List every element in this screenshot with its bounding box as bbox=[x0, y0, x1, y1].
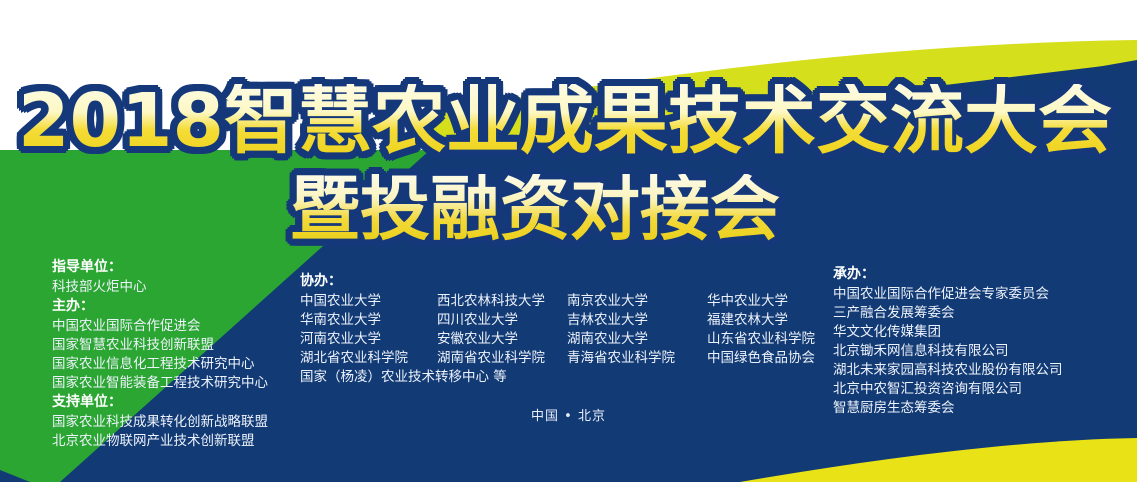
support-item: 北京农业物联网产业技术创新联盟 bbox=[52, 432, 268, 451]
coorganizer-item: 湖南农业大学 bbox=[567, 330, 707, 349]
host-item: 国家农业智能装备工程技术研究中心 bbox=[52, 374, 268, 393]
credits-area: 指导单位： 科技部火炬中心 主办： 中国农业国际合作促进会 国家智慧农业科技创新… bbox=[0, 0, 1137, 482]
coorganizer-item: 中国农业大学 bbox=[300, 292, 437, 311]
coorganizer-row: 中国农业大学 西北农林科技大学 南京农业大学 华中农业大学 bbox=[300, 292, 827, 311]
coorganizer-item: 华南农业大学 bbox=[300, 311, 437, 330]
credits-column-right: 承办： 中国农业国际合作促进会专家委员会 三产融合发展筹委会 华文文化传媒集团 … bbox=[833, 265, 1063, 418]
coorganizer-row: 湖北省农业科学院 湖南省农业科学院 青海省农业科学院 中国绿色食品协会 bbox=[300, 349, 827, 368]
organizer-item: 北京中农智汇投资咨询有限公司 bbox=[833, 380, 1063, 399]
coorganizer-item: 南京农业大学 bbox=[567, 292, 707, 311]
coorganizer-item: 吉林农业大学 bbox=[567, 311, 707, 330]
host-item: 国家智慧农业科技创新联盟 bbox=[52, 336, 268, 355]
host-item: 中国农业国际合作促进会 bbox=[52, 317, 268, 336]
organizer-item: 中国农业国际合作促进会专家委员会 bbox=[833, 285, 1063, 304]
coorganizer-item: 湖北省农业科学院 bbox=[300, 349, 437, 368]
coorganizer-item: 中国绿色食品协会 bbox=[707, 349, 827, 368]
host-heading: 主办： bbox=[52, 297, 268, 316]
coorganizer-row: 华南农业大学 四川农业大学 吉林农业大学 福建农林大学 bbox=[300, 311, 827, 330]
event-location: 中国 • 北京 bbox=[0, 405, 1137, 424]
coorganizer-last-line: 国家（杨凌）农业技术转移中心 等 bbox=[300, 368, 827, 387]
credits-column-middle: 协办： 中国农业大学 西北农林科技大学 南京农业大学 华中农业大学 华南农业大学… bbox=[300, 272, 827, 387]
organizer-item: 北京锄禾网信息科技有限公司 bbox=[833, 342, 1063, 361]
coorganizer-item: 四川农业大学 bbox=[437, 311, 567, 330]
coorganizer-item: 福建农林大学 bbox=[707, 311, 827, 330]
coorganizer-item: 青海省农业科学院 bbox=[567, 349, 707, 368]
coorganizer-item: 湖南省农业科学院 bbox=[437, 349, 567, 368]
coorganizer-row: 河南农业大学 安徽农业大学 湖南农业大学 山东省农业科学院 bbox=[300, 330, 827, 349]
organizer-item: 湖北未来家园高科技农业股份有限公司 bbox=[833, 361, 1063, 380]
coorganizer-item: 河南农业大学 bbox=[300, 330, 437, 349]
coorganizer-heading: 协办： bbox=[300, 272, 827, 291]
host-item: 国家农业信息化工程技术研究中心 bbox=[52, 355, 268, 374]
organizer-heading: 承办： bbox=[833, 265, 1063, 284]
coorganizer-item: 西北农林科技大学 bbox=[437, 292, 567, 311]
coorganizer-item: 华中农业大学 bbox=[707, 292, 827, 311]
coorganizer-item: 山东省农业科学院 bbox=[707, 330, 827, 349]
guidance-heading: 指导单位： bbox=[52, 258, 268, 277]
conference-banner: 2018智慧农业成果技术交流大会 暨投融资对接会 指导单位： 科技部火炬中心 主… bbox=[0, 0, 1137, 482]
organizer-item: 三产融合发展筹委会 bbox=[833, 304, 1063, 323]
organizer-item: 华文文化传媒集团 bbox=[833, 323, 1063, 342]
guidance-item: 科技部火炬中心 bbox=[52, 278, 268, 297]
coorganizer-item: 安徽农业大学 bbox=[437, 330, 567, 349]
